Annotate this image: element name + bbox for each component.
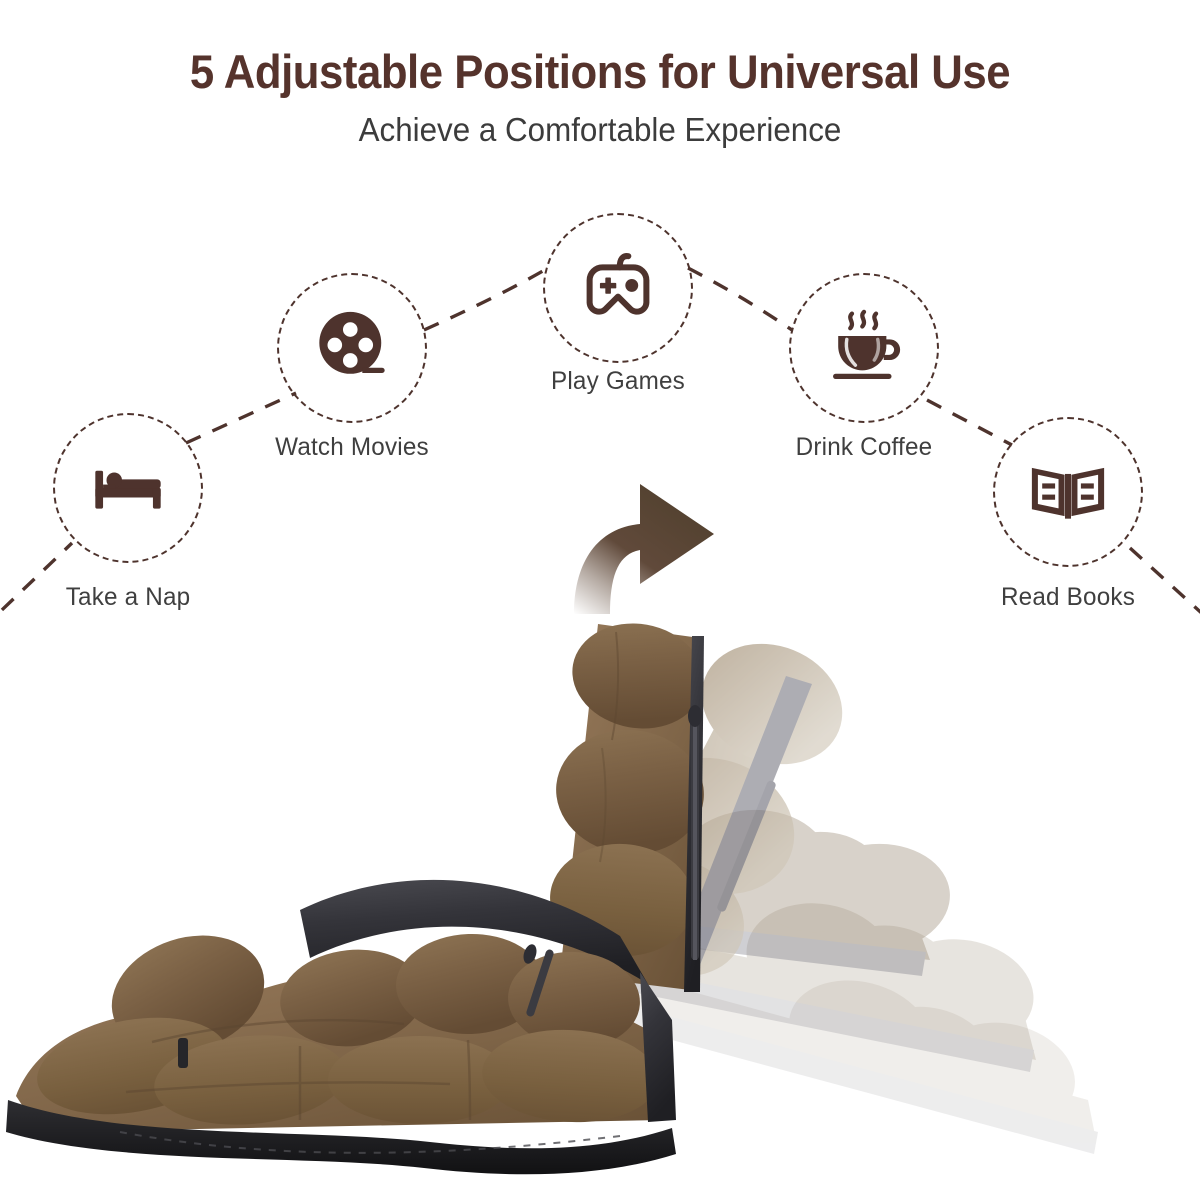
node-watch-movies[interactable]	[277, 273, 427, 423]
node-label-watch-movies: Watch Movies	[207, 433, 498, 462]
infographic-page: 5 Adjustable Positions for Universal Use…	[0, 0, 1200, 1200]
connector-movies-games	[424, 268, 548, 330]
sofa-seat-base	[6, 880, 676, 1174]
node-play-games[interactable]	[543, 213, 693, 363]
header: 5 Adjustable Positions for Universal Use…	[0, 0, 1200, 148]
coffee-cup-icon	[821, 305, 907, 391]
gamepad-icon	[575, 245, 661, 331]
node-drink-coffee[interactable]	[789, 273, 939, 423]
film-reel-icon	[309, 305, 395, 391]
node-label-drink-coffee: Drink Coffee	[719, 433, 1010, 462]
node-read-books[interactable]	[993, 417, 1143, 567]
connector-games-coffee	[688, 268, 792, 330]
product-photo-adjustable-floor-sofa	[0, 580, 1200, 1200]
node-label-play-games: Play Games	[473, 367, 764, 396]
open-book-icon	[1025, 449, 1111, 535]
node-take-a-nap[interactable]	[53, 413, 203, 563]
page-subtitle: Achieve a Comfortable Experience	[30, 112, 1170, 148]
page-title: 5 Adjustable Positions for Universal Use	[42, 46, 1158, 98]
bed-icon	[85, 445, 171, 531]
